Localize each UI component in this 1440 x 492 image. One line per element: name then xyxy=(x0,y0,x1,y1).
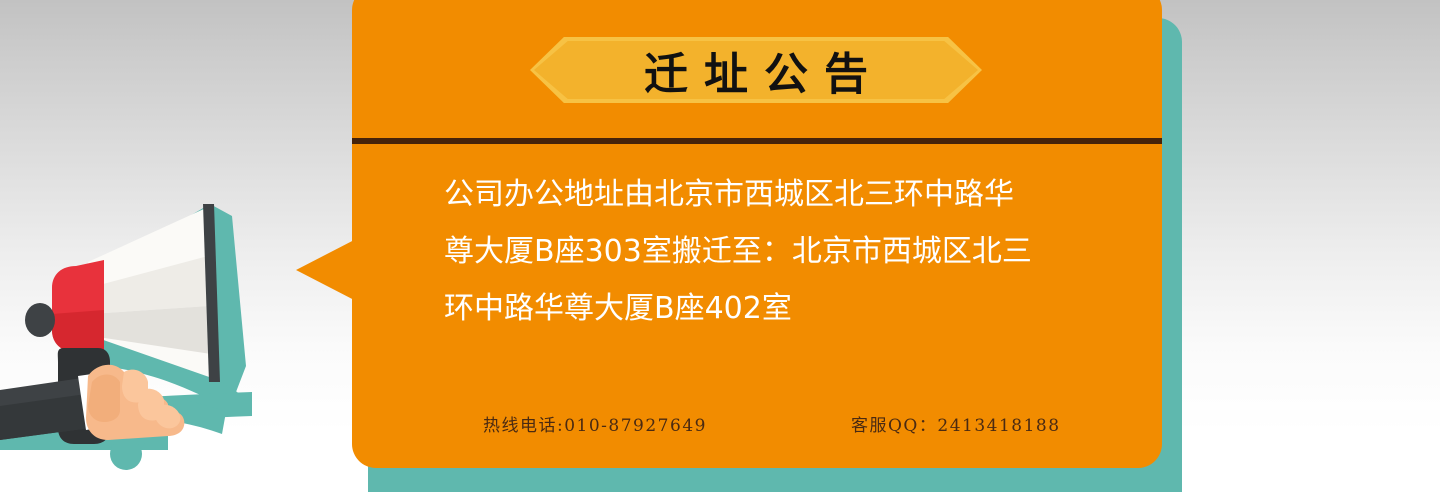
body-line-2: 尊大厦B座303室搬迁至：北京市西城区北三 xyxy=(444,223,1094,280)
hand-holding-megaphone-illustration xyxy=(0,196,300,492)
contact-footer: 热线电话:010-87927649 客服QQ：2413418188 xyxy=(352,406,1162,440)
announcement-body: 公司办公地址由北京市西城区北三环中路华 尊大厦B座303室搬迁至：北京市西城区北… xyxy=(444,166,1094,337)
megaphone-base-red xyxy=(52,260,104,358)
megaphone-knob xyxy=(25,303,55,337)
body-line-1: 公司办公地址由北京市西城区北三环中路华 xyxy=(444,166,1094,223)
hotline-text: 热线电话:010-87927649 xyxy=(483,411,707,436)
title-ribbon-text-wrap: 迁址公告 xyxy=(530,37,982,103)
body-line-3: 环中路华尊大厦B座402室 xyxy=(444,280,1094,337)
speech-tail-orange xyxy=(296,238,358,302)
page-title: 迁址公告 xyxy=(530,37,982,103)
qq-text: 客服QQ：2413418188 xyxy=(851,411,1061,436)
announcement-banner: 迁址公告 公司办公地址由北京市西城区北三环中路华 尊大厦B座303室搬迁至：北京… xyxy=(0,0,1440,492)
divider xyxy=(352,138,1162,144)
